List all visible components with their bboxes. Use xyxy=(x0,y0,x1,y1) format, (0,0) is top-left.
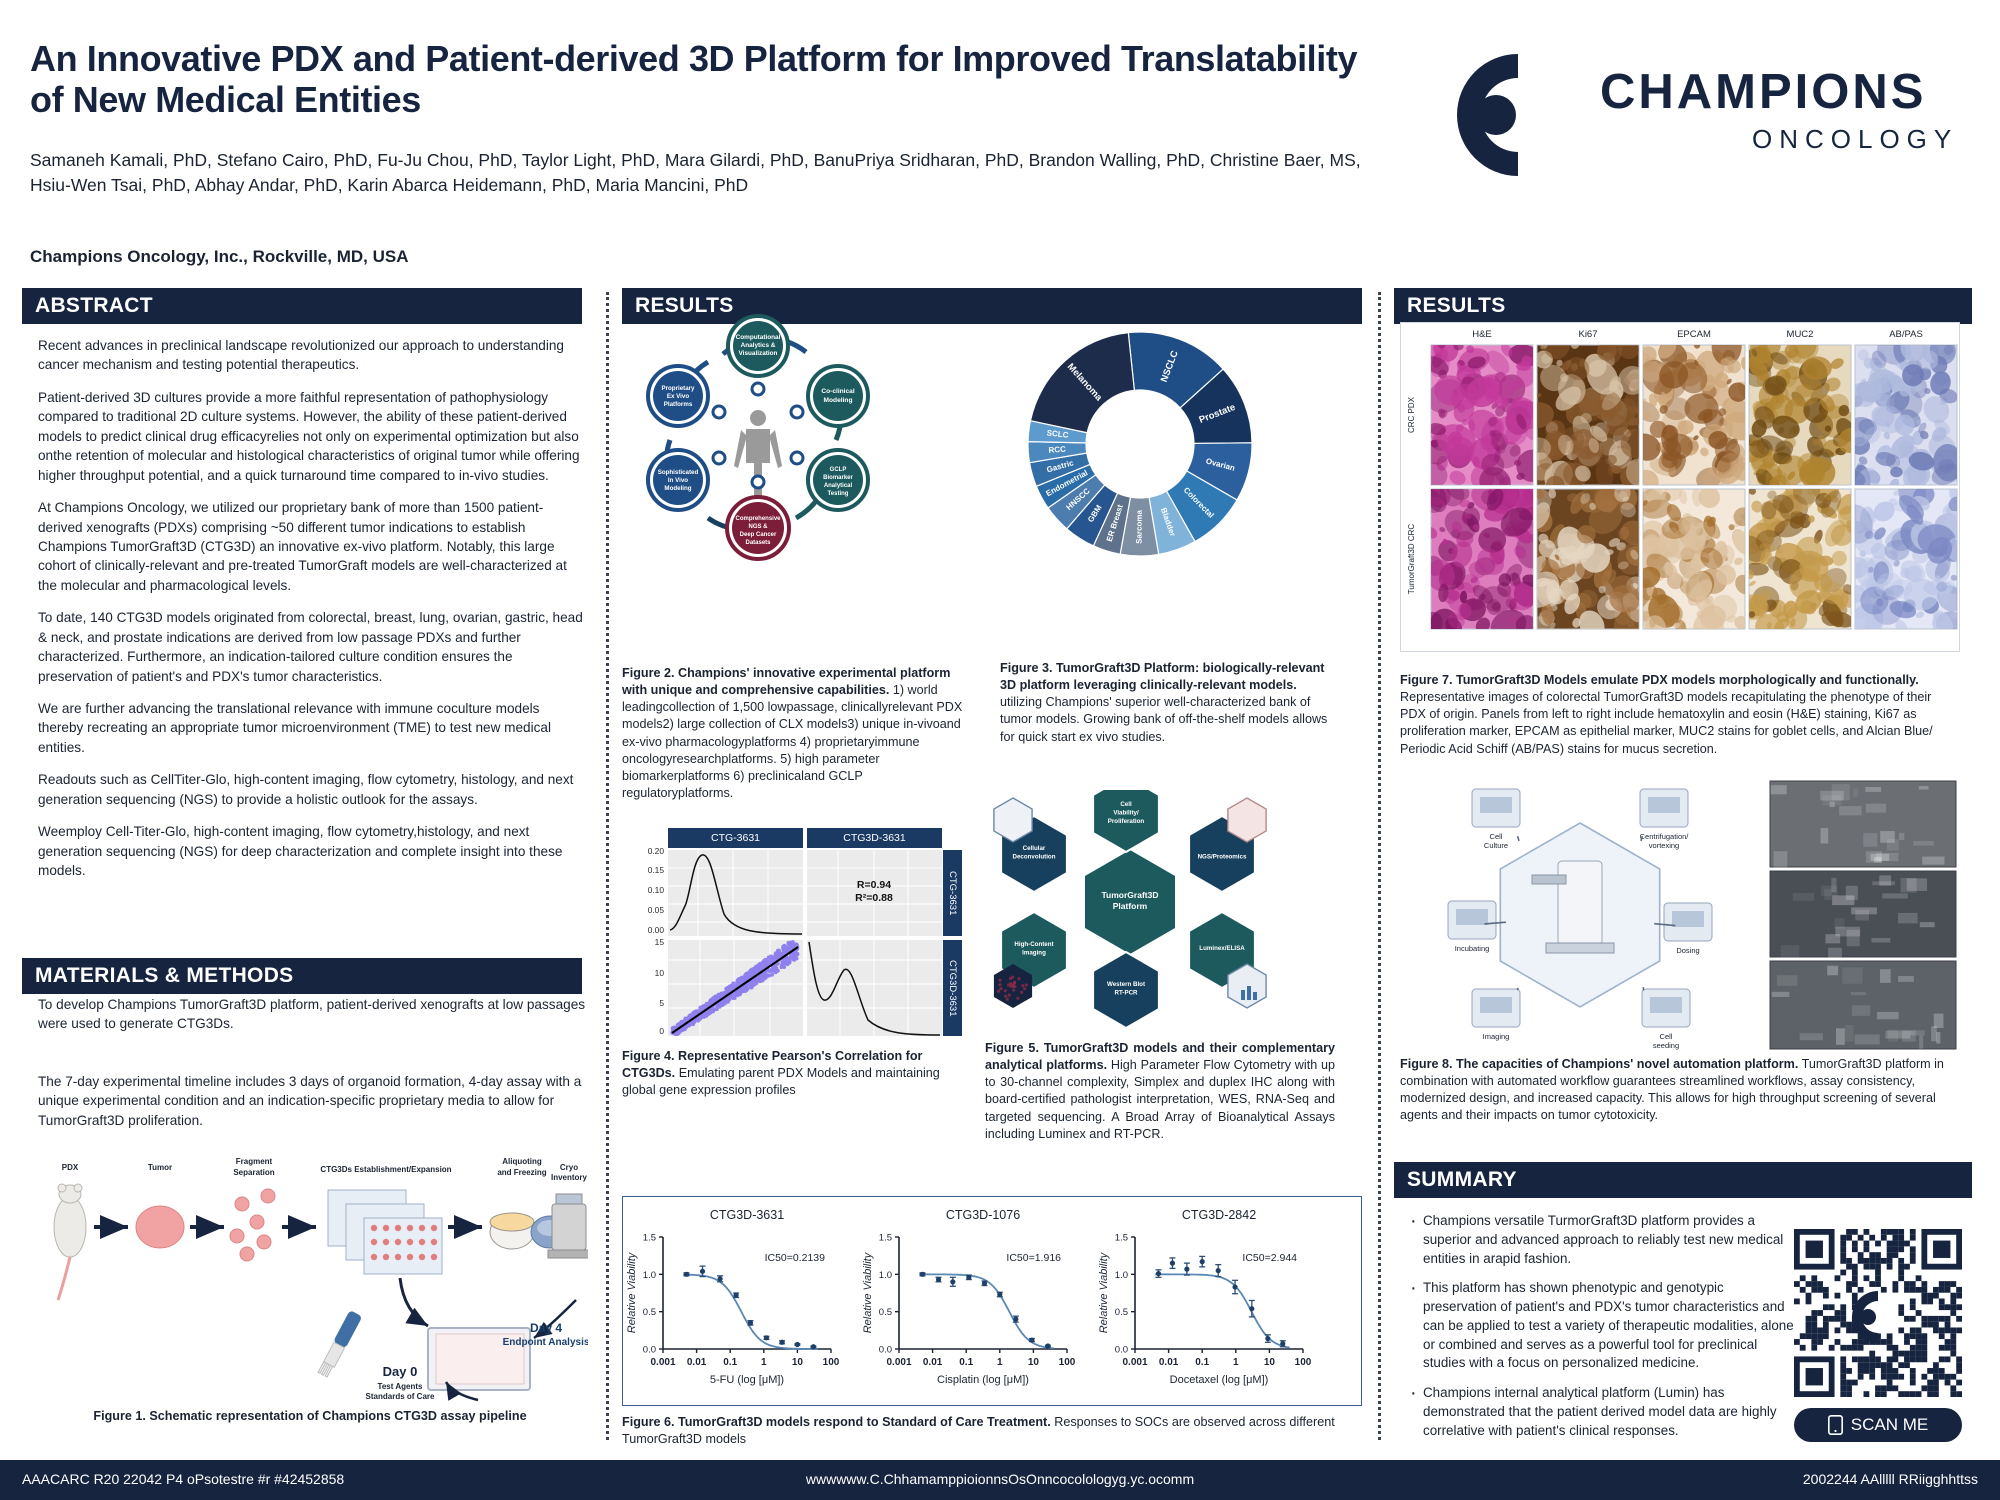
figure-7-caption-bold: Figure 7. TumorGraft3D Models emulate PD… xyxy=(1400,673,1919,687)
fig2-node-invivo: Sophisticated In Vivo Modeling xyxy=(648,450,708,510)
scatter-point xyxy=(747,973,751,977)
figure-1-caption: Figure 1. Schematic representation of Ch… xyxy=(50,1408,570,1425)
fig1-label-frag1: Fragment xyxy=(236,1157,273,1166)
figure-7-ihc-panels: H&EKi67EPCAMMUC2AB/PASCRC PDXTumorGraft3… xyxy=(1400,322,1960,652)
dose-xlabel-0-1: 0.01 xyxy=(687,1357,707,1368)
photo-detail xyxy=(1865,787,1881,792)
photo-detail xyxy=(1774,851,1788,867)
svg-text:Ex Vivo: Ex Vivo xyxy=(667,393,689,400)
fig1-day0-sub1: Test Agents xyxy=(378,1382,423,1391)
fragment-icon xyxy=(230,1189,275,1261)
ihc-row-label-0: CRC PDX xyxy=(1407,396,1416,433)
svg-text:Computational: Computational xyxy=(736,334,781,341)
summary-item-2: This platform has shown phenotypic and g… xyxy=(1408,1279,1798,1373)
tumor-icon xyxy=(136,1206,184,1248)
scatter-point xyxy=(794,942,798,946)
photo-detail xyxy=(1855,1034,1880,1044)
robot-arm-body xyxy=(1558,861,1602,945)
spheroid-dot xyxy=(998,979,1001,982)
photo-detail xyxy=(1901,878,1917,893)
dose-ic50-0: IC50=0.2139 xyxy=(765,1252,826,1264)
dose-ylabel-2-2: 1.0 xyxy=(1115,1270,1128,1281)
scatter-point xyxy=(709,1000,713,1004)
dose-xlabel-1-1: 0.01 xyxy=(923,1357,943,1368)
svg-text:GCLP: GCLP xyxy=(830,467,847,473)
dose-point-1-0 xyxy=(920,1272,925,1277)
automation-label-dosing-0: Dosing xyxy=(1676,946,1699,955)
spheroid-dot xyxy=(1009,982,1012,985)
photo-detail xyxy=(1899,833,1904,840)
dose-yaxis-title-2: Relative Viability xyxy=(1098,1251,1110,1333)
dose-point-2-8 xyxy=(1280,1341,1285,1346)
automation-icon-detail-5 xyxy=(1650,997,1682,1013)
scatter-point xyxy=(767,956,771,960)
dose-xlabel-1-3: 1 xyxy=(997,1357,1003,1368)
svg-text:In Vivo: In Vivo xyxy=(668,477,688,484)
dose-ylabel-2-3: 1.5 xyxy=(1115,1233,1128,1244)
fig1-day4: Day 4 xyxy=(530,1321,562,1335)
scatter-point xyxy=(758,975,762,979)
svg-text:0.20: 0.20 xyxy=(648,846,665,856)
spheroid-dot xyxy=(999,987,1002,990)
ihc-row-label-1: TumorGraft3D CRC xyxy=(1407,524,1416,595)
fig2-node-ngs: Comprehensive NGS & Deep Cancer Datasets xyxy=(727,497,789,559)
photo-detail xyxy=(1832,895,1854,905)
figure-2-caption: Figure 2. Champions' innovative experime… xyxy=(622,665,972,802)
dose-xlabel-2-0: 0.001 xyxy=(1122,1357,1147,1368)
photo-detail xyxy=(1800,1033,1823,1040)
automation-icon-detail-0 xyxy=(1480,797,1512,813)
figure-8-automation: CellCultureCentrifugation/vortexingIncub… xyxy=(1400,775,1960,1055)
dose-xaxis-title-2: Docetaxel (log [μM]) xyxy=(1170,1374,1269,1386)
figure-6-dose-response: CTG3D-3631IC50=0.21390.00.51.01.50.0010.… xyxy=(622,1196,1362,1406)
photo-detail xyxy=(1880,969,1891,983)
svg-text:0: 0 xyxy=(659,1026,664,1036)
dose-point-0-6 xyxy=(779,1340,784,1345)
automation-icon-detail-4 xyxy=(1480,997,1512,1013)
svg-text:Modeling: Modeling xyxy=(824,397,853,404)
hex-node-label-4-0: High-Content xyxy=(1014,941,1053,948)
svg-text:Deep Cancer: Deep Cancer xyxy=(740,532,777,538)
photo-detail xyxy=(1888,1030,1898,1042)
hex-bar-1 xyxy=(1247,986,1251,1000)
scatter-point xyxy=(777,949,781,953)
scatter-point xyxy=(793,953,797,957)
photo-detail xyxy=(1851,992,1866,995)
photo-detail xyxy=(1835,918,1845,929)
dose-xlabel-1-2: 0.1 xyxy=(959,1357,973,1368)
dose-xlabel-1-4: 10 xyxy=(1028,1357,1040,1368)
spheroid-dot xyxy=(1025,983,1028,986)
scatter-point xyxy=(739,991,743,995)
dose-xlabel-0-4: 10 xyxy=(792,1357,804,1368)
dose-point-1-6 xyxy=(1013,1317,1018,1322)
photo-detail xyxy=(1866,804,1886,813)
scatter-point xyxy=(676,1032,680,1036)
dose-ylabel-0-1: 0.5 xyxy=(643,1307,656,1318)
svg-text:0.00: 0.00 xyxy=(648,925,665,935)
qr-logo-dot xyxy=(1860,1309,1876,1325)
photo-detail xyxy=(1842,968,1862,984)
footer-left: AAACARC R20 22042 P4 oPsotestre #r #4245… xyxy=(22,1471,344,1487)
hex-node-label-0-2: Proliferation xyxy=(1108,818,1145,825)
fig1-label-aliquot2: and Freezing xyxy=(497,1168,546,1177)
dose-title-0: CTG3D-3631 xyxy=(710,1208,784,1222)
ihc-texture-1-1 xyxy=(1517,478,1655,646)
dose-point-0-0 xyxy=(684,1272,689,1277)
figure-7-caption: Figure 7. TumorGraft3D Models emulate PD… xyxy=(1400,672,1960,758)
photo-detail xyxy=(1771,785,1787,794)
footer-right: 2002244 AAlllll RRiigghhttss xyxy=(1803,1471,1978,1487)
dose-xlabel-0-0: 0.001 xyxy=(650,1357,675,1368)
automation-icon-detail-1 xyxy=(1648,797,1680,813)
automation-label-imaging-0: Imaging xyxy=(1483,1032,1510,1041)
svg-text:Visualization: Visualization xyxy=(739,350,778,357)
summary-item-1: Champions versatile TurmorGraft3D platfo… xyxy=(1408,1212,1798,1268)
dose-xlabel-0-2: 0.1 xyxy=(723,1357,737,1368)
hex-node-label-5-0: Cellular xyxy=(1023,845,1046,852)
column-divider-2 xyxy=(1378,292,1381,1440)
scatter-point xyxy=(698,1016,702,1020)
fig2-node-gclp: GCLP Biomarker Analytical Testing xyxy=(808,450,868,510)
scatter-point xyxy=(774,953,778,957)
fig1-label-frag2: Separation xyxy=(233,1168,274,1177)
automation-icon-detail-3 xyxy=(1672,911,1704,927)
photo-detail xyxy=(1913,841,1933,846)
photo-detail xyxy=(1836,1028,1845,1045)
photo-detail xyxy=(1898,913,1918,923)
photo-detail xyxy=(1821,886,1838,897)
dose-ylabel-1-1: 0.5 xyxy=(879,1307,892,1318)
svg-text:15: 15 xyxy=(655,937,665,947)
dose-ylabel-0-0: 0.0 xyxy=(643,1345,656,1356)
figure-5-caption: Figure 5. TumorGraft3D models and their … xyxy=(985,1040,1335,1143)
summary-item-3: Champions internal analytical platform (… xyxy=(1408,1384,1798,1440)
photo-detail xyxy=(1839,806,1861,815)
figure-6-caption: Figure 6. TumorGraft3D models respond to… xyxy=(622,1414,1362,1448)
dose-point-2-5 xyxy=(1232,1284,1237,1289)
robot-base xyxy=(1546,943,1614,953)
svg-text:Testing: Testing xyxy=(828,491,849,497)
svg-text:Sophisticated: Sophisticated xyxy=(658,469,699,476)
dose-xaxis-title-1: Cisplatin (log [μM]) xyxy=(937,1374,1029,1386)
photo-detail xyxy=(1852,1005,1870,1016)
champions-oncology-logo: CHAMPIONS ONCOLOGY xyxy=(1400,40,1970,190)
scatter-point xyxy=(737,978,741,982)
spheroid-dot xyxy=(1006,998,1009,1001)
photo-detail xyxy=(1853,788,1858,796)
dose-xaxis-title-0: 5-FU (log [μM]) xyxy=(710,1374,784,1386)
photo-detail xyxy=(1822,795,1841,805)
svg-text:10: 10 xyxy=(655,968,665,978)
dose-xlabel-2-4: 10 xyxy=(1264,1357,1276,1368)
dose-point-0-7 xyxy=(795,1342,800,1347)
dose-point-1-4 xyxy=(982,1281,987,1286)
scatter-point xyxy=(732,995,736,999)
figure-8-caption: Figure 8. The capacities of Champions' n… xyxy=(1400,1056,1960,1125)
multiwell-plate-icon xyxy=(328,1190,442,1274)
fig2-node-computational: Computational Analytics & Visualization xyxy=(728,316,788,376)
logo-subtitle: ONCOLOGY xyxy=(1752,124,1958,154)
scan-me-label: SCAN ME xyxy=(1851,1415,1928,1435)
hex-center-label-1: TumorGraft3D xyxy=(1102,890,1159,900)
logo-wordmark: CHAMPIONS xyxy=(1600,65,1926,119)
scatter-point xyxy=(708,1009,712,1013)
spheroid-dot xyxy=(998,983,1001,986)
ihc-col-header-0: H&E xyxy=(1472,329,1492,340)
automation-label-cell-culture-1: Culture xyxy=(1484,841,1508,850)
qr-code-image xyxy=(1794,1229,1962,1397)
dose-point-2-7 xyxy=(1265,1336,1270,1341)
affiliation: Champions Oncology, Inc., Rockville, MD,… xyxy=(30,247,1030,267)
spheroid-dot xyxy=(997,989,1000,992)
donut-label-sarcoma: Sarcoma xyxy=(1135,510,1144,544)
fig2-node-coclinical: Co-clinical Modeling xyxy=(808,366,868,426)
scatter-point xyxy=(727,999,731,1003)
fig4-stat-r2: R²=0.88 xyxy=(855,892,893,904)
dose-xlabel-0-5: 100 xyxy=(823,1357,840,1368)
robot-arm-reach xyxy=(1532,875,1566,884)
scatter-point xyxy=(789,941,793,945)
spheroid-dot xyxy=(1021,984,1024,987)
dose-point-0-8 xyxy=(811,1344,816,1349)
abstract-p2: Patient-derived 3D cultures provide a mo… xyxy=(38,388,586,485)
svg-text:0.15: 0.15 xyxy=(648,865,665,875)
section-header-materials: MATERIALS & METHODS xyxy=(22,958,582,994)
ihc-col-header-2: EPCAM xyxy=(1677,329,1711,340)
scan-me-button[interactable]: SCAN ME xyxy=(1794,1408,1962,1442)
scatter-point xyxy=(752,967,756,971)
fig1-label-cryo1: Cryo xyxy=(560,1163,578,1172)
dose-point-1-1 xyxy=(936,1277,941,1282)
svg-text:Analytics &: Analytics & xyxy=(741,342,776,349)
hex-node-label-1-1: NGS/Proteomics xyxy=(1198,854,1247,861)
figure-3-caption-rest: utilizing Champions' superior well-chara… xyxy=(1000,695,1327,743)
poster-footer: AAACARC R20 22042 P4 oPsotestre #r #4245… xyxy=(0,1460,2000,1500)
dose-ylabel-0-2: 1.0 xyxy=(643,1270,656,1281)
photo-detail xyxy=(1781,945,1800,961)
spheroid-dot xyxy=(1020,991,1023,994)
photo-detail xyxy=(1882,893,1908,898)
dose-xlabel-1-0: 0.001 xyxy=(886,1357,911,1368)
fig1-day0-sub2: Standards of Care xyxy=(366,1392,435,1401)
figure-3-caption: Figure 3. TumorGraft3D Platform: biologi… xyxy=(1000,660,1330,746)
materials-p2: The 7-day experimental timeline includes… xyxy=(38,1072,586,1130)
footer-center: wwwwww.C.ChhamamppioionnsOsOnncocolology… xyxy=(806,1471,1194,1487)
dose-xlabel-2-2: 0.1 xyxy=(1195,1357,1209,1368)
dose-ic50-2: IC50=2.944 xyxy=(1242,1252,1297,1264)
svg-text:Biomarker: Biomarker xyxy=(823,475,853,481)
svg-text:Modeling: Modeling xyxy=(664,485,691,492)
figure-1-schematic: PDX Tumor Fragment Separation xyxy=(28,1132,588,1402)
figure-4-correlation: CTG-3631 CTG3D-3631 CTG-3631 CTG3D-3631 xyxy=(628,828,958,1038)
dose-xlabel-2-5: 100 xyxy=(1295,1357,1312,1368)
spheroid-dot xyxy=(1004,995,1007,998)
automation-arrow-4 xyxy=(1518,988,1519,990)
abstract-p3: At Champions Oncology, we utilized our p… xyxy=(38,498,586,595)
section-header-summary: SUMMARY xyxy=(1394,1162,1972,1198)
fig1-day0: Day 0 xyxy=(383,1364,418,1379)
dose-point-2-3 xyxy=(1200,1259,1205,1264)
photo-detail xyxy=(1871,938,1890,942)
spheroid-dot xyxy=(1008,994,1011,997)
svg-text:Co-clinical: Co-clinical xyxy=(821,388,855,395)
ihc-col-header-3: MUC2 xyxy=(1787,329,1814,340)
hex-node-label-4-1: Imaging xyxy=(1022,950,1046,957)
dose-ylabel-2-0: 0.0 xyxy=(1115,1345,1128,1356)
ihc-col-header-1: Ki67 xyxy=(1578,329,1597,340)
scatter-point xyxy=(748,969,752,973)
hex-node-label-3-1: RT-PCR xyxy=(1114,990,1138,997)
scatter-point xyxy=(718,1005,722,1009)
automation-label-cell-seeding-0: Cell xyxy=(1660,1032,1673,1041)
spheroid-dot xyxy=(1023,987,1026,990)
scatter-point xyxy=(705,1002,709,1006)
photo-detail xyxy=(1863,833,1877,847)
photo-detail xyxy=(1777,975,1798,986)
abstract-p7: Weemploy Cell-Titer-Glo, high-content im… xyxy=(38,822,586,880)
scatter-point xyxy=(788,957,792,961)
column-divider-1 xyxy=(606,292,609,1440)
fig1-label-cryo2: Inventory xyxy=(551,1173,588,1182)
dose-point-0-4 xyxy=(748,1320,753,1325)
svg-text:0.05: 0.05 xyxy=(648,905,665,915)
automation-icon-detail-2 xyxy=(1456,909,1488,925)
materials-p1: To develop Champions TumorGraft3D platfo… xyxy=(38,995,586,1034)
svg-text:Comprehensive: Comprehensive xyxy=(735,516,781,522)
dose-point-2-1 xyxy=(1170,1261,1175,1266)
scatter-point xyxy=(752,983,756,987)
scatter-point xyxy=(741,977,745,981)
scatter-point xyxy=(716,993,720,997)
spheroid-dot xyxy=(1017,977,1020,980)
automation-label-cell-seeding-1: seeding xyxy=(1653,1041,1679,1050)
dose-xlabel-1-5: 100 xyxy=(1059,1357,1076,1368)
section-header-results-right: RESULTS xyxy=(1394,288,1972,324)
svg-text:Proprietary: Proprietary xyxy=(661,385,695,392)
photo-detail xyxy=(1793,893,1814,901)
photo-detail xyxy=(1845,1025,1854,1042)
figure-7-caption-rest: Representative images of colorectal Tumo… xyxy=(1400,690,1933,755)
page-title: An Innovative PDX and Patient-derived 3D… xyxy=(30,38,1370,120)
photo-detail xyxy=(1919,1035,1923,1049)
fig1-label-tumor: Tumor xyxy=(148,1163,172,1172)
spheroid-dot xyxy=(1009,977,1012,980)
figure-4-caption: Figure 4. Representative Pearson's Corre… xyxy=(622,1048,962,1099)
scatter-point xyxy=(787,961,791,965)
photo-detail xyxy=(1876,853,1898,861)
dose-ylabel-0-3: 1.5 xyxy=(643,1233,656,1244)
pdx-mouse-icon xyxy=(54,1184,86,1300)
spheroid-dot xyxy=(1011,985,1014,988)
donut-label-rcc: RCC xyxy=(1048,445,1066,455)
photo-detail xyxy=(1919,786,1929,789)
dose-curve-0 xyxy=(683,1275,817,1350)
ihc-col-header-4: AB/PAS xyxy=(1889,329,1923,340)
automation-label-incubator-0: Incubating xyxy=(1455,944,1490,953)
qr-code-block[interactable]: SCAN ME xyxy=(1794,1229,1962,1442)
photo-detail xyxy=(1922,856,1944,864)
abstract-p5: We are further advancing the translation… xyxy=(38,699,586,757)
fig1-day4-sub: Endpoint Analysis xyxy=(503,1337,588,1348)
dose-ylabel-1-0: 0.0 xyxy=(879,1345,892,1356)
dose-title-2: CTG3D-2842 xyxy=(1182,1208,1256,1222)
dose-ylabel-1-3: 1.5 xyxy=(879,1233,892,1244)
dose-point-1-2 xyxy=(950,1279,955,1284)
dose-point-0-5 xyxy=(764,1335,769,1340)
svg-text:Datasets: Datasets xyxy=(745,540,771,546)
photo-detail xyxy=(1879,875,1891,885)
dose-ic50-1: IC50=1.916 xyxy=(1006,1252,1061,1264)
figure-3-donut-chart: NSCLCProstateOvarianColorectalBladderSar… xyxy=(1000,312,1280,572)
svg-text:Analytical: Analytical xyxy=(824,483,853,489)
mobile-phone-icon xyxy=(1828,1415,1843,1435)
photo-detail xyxy=(1828,948,1842,962)
abstract-p4: To date, 140 CTG3D models originated fro… xyxy=(38,608,586,686)
scatter-point xyxy=(758,963,762,967)
figure-6-caption-bold: Figure 6. TumorGraft3D models respond to… xyxy=(622,1415,1051,1429)
photo-detail xyxy=(1772,992,1790,997)
automation-label-centrifuge-0: Centrifugation/ xyxy=(1640,832,1690,841)
dose-point-1-7 xyxy=(1029,1337,1034,1342)
dose-point-0-1 xyxy=(700,1269,705,1274)
scatter-point xyxy=(759,966,763,970)
scatter-point xyxy=(775,970,779,974)
photo-detail xyxy=(1898,976,1914,982)
poster-header: An Innovative PDX and Patient-derived 3D… xyxy=(0,0,2000,270)
dose-xlabel-2-1: 0.01 xyxy=(1159,1357,1179,1368)
hex-node-label-5-1: Deconvolution xyxy=(1013,854,1056,861)
fig1-label-aliquot1: Aliquoting xyxy=(502,1157,542,1166)
photo-detail xyxy=(1821,828,1829,843)
dose-xlabel-2-3: 1 xyxy=(1233,1357,1239,1368)
automation-label-centrifuge-1: vortexing xyxy=(1649,841,1679,850)
automation-photo-0 xyxy=(1770,781,1956,867)
dose-point-0-2 xyxy=(717,1276,722,1281)
dose-point-0-3 xyxy=(734,1293,739,1298)
dose-point-1-3 xyxy=(966,1275,971,1280)
photo-detail xyxy=(1877,1012,1899,1019)
hex-node-label-2-0: Luminex/ELISA xyxy=(1199,945,1245,952)
scatter-point xyxy=(745,988,749,992)
dose-point-1-8 xyxy=(1045,1343,1050,1348)
photo-detail xyxy=(1920,922,1935,927)
hex-node-label-0-1: Viability/ xyxy=(1113,810,1139,817)
logo-c-mark xyxy=(1457,54,1518,176)
hex-bar-2 xyxy=(1253,992,1257,1000)
abstract-p1: Recent advances in preclinical landscape… xyxy=(38,336,586,375)
figure-3-caption-bold: Figure 3. TumorGraft3D Platform: biologi… xyxy=(1000,661,1324,692)
figure-8-caption-bold: Figure 8. The capacities of Champions' n… xyxy=(1400,1057,1798,1071)
scatter-point xyxy=(687,1024,691,1028)
fig1-label-pdx: PDX xyxy=(62,1163,79,1172)
summary-list: Champions versatile TurmorGraft3D platfo… xyxy=(1408,1212,1798,1451)
svg-text:Platforms: Platforms xyxy=(664,401,693,408)
scatter-point xyxy=(770,969,774,973)
abstract-body: Recent advances in preclinical landscape… xyxy=(38,336,586,894)
dose-yaxis-title-0: Relative Viability xyxy=(626,1251,638,1333)
spheroid-dot xyxy=(1004,989,1007,992)
hex-node-label-0-0: Cell xyxy=(1120,801,1132,808)
spheroid-dot xyxy=(1012,988,1015,991)
materials-body: To develop Champions TumorGraft3D platfo… xyxy=(38,995,586,1143)
photo-detail xyxy=(1910,1030,1925,1035)
scatter-point xyxy=(783,944,787,948)
scatter-point xyxy=(731,984,735,988)
fig2-node-exvivo: Proprietary Ex Vivo Platforms xyxy=(648,366,708,426)
fig4-stat-r: R=0.94 xyxy=(857,879,891,891)
photo-detail xyxy=(1936,1032,1940,1044)
